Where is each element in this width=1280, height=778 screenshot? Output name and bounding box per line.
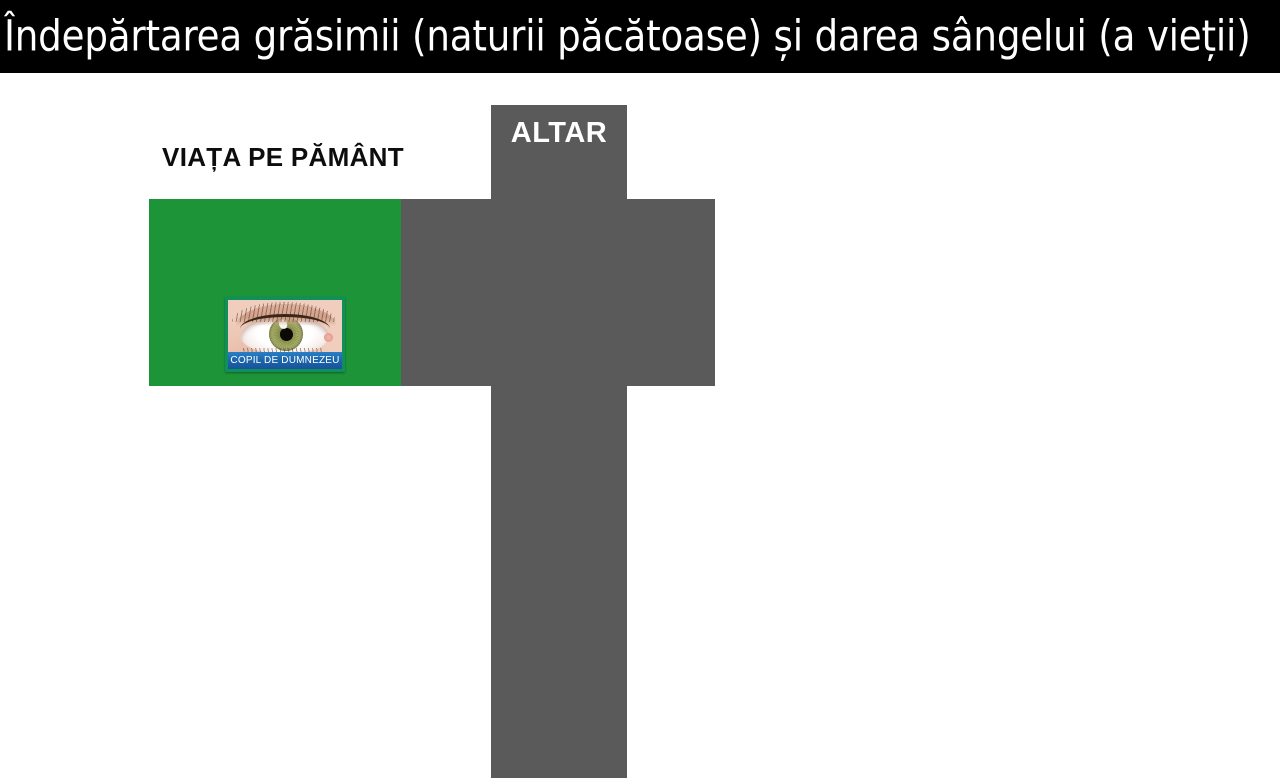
eye-tear-duct — [324, 333, 333, 342]
slide-canvas: ALTAR VIAȚA PE PĂMÂNT COPIL DE DUMNEZEU — [0, 73, 1280, 720]
altar-cross-horizontal-beam — [401, 199, 715, 386]
slide-title-bar: Îndepărtarea grăsimii (naturii păcătoase… — [0, 0, 1280, 73]
child-of-god-caption: COPIL DE DUMNEZEU — [228, 352, 342, 369]
child-of-god-card: COPIL DE DUMNEZEU — [225, 297, 345, 372]
eye-pupil — [280, 328, 293, 341]
slide-title: Îndepărtarea grăsimii (naturii păcătoase… — [4, 15, 1251, 58]
earth-life-label: VIAȚA PE PĂMÂNT — [149, 142, 417, 173]
altar-label: ALTAR — [491, 117, 627, 150]
